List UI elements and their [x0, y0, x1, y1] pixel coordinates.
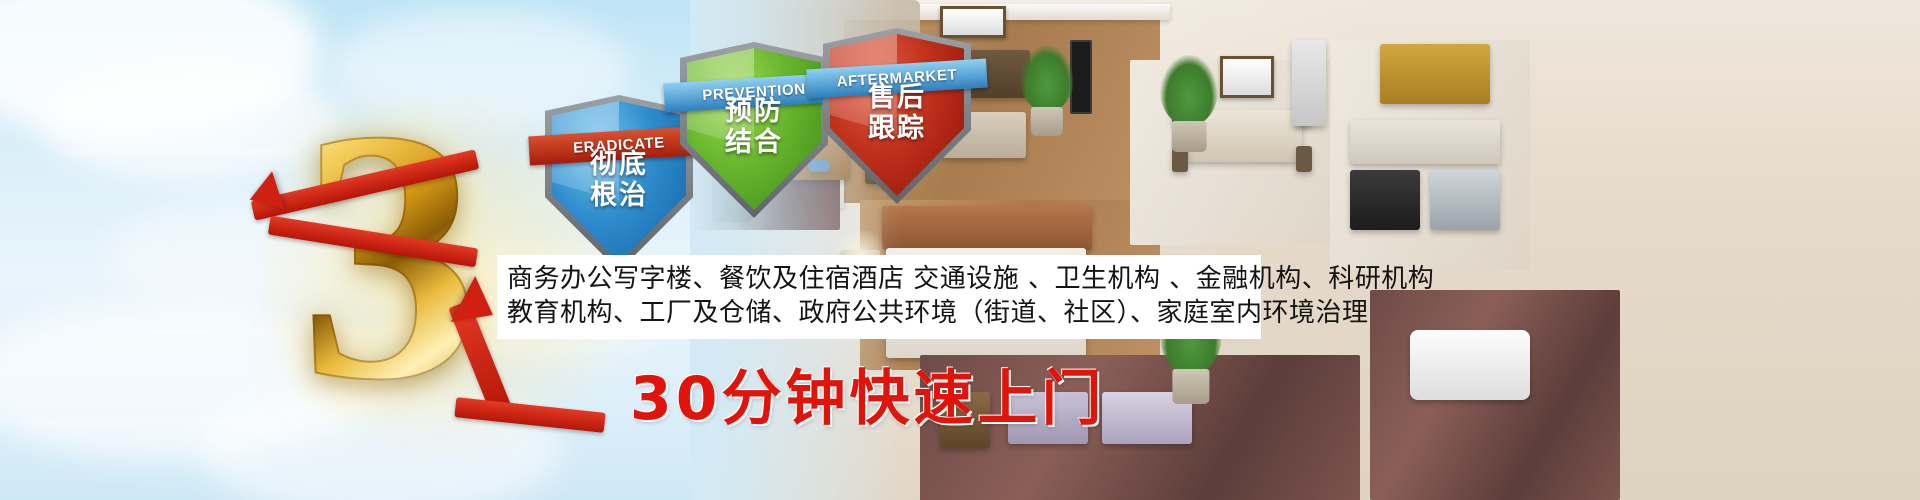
oven — [1350, 170, 1420, 230]
service-scope-line-1: 商务办公写字楼、餐饮及住宿酒店 交通设施 、卫生机构 、金融机构、科研机构 — [507, 262, 1251, 296]
plant-pot — [1031, 107, 1063, 136]
kitchen-counter — [1350, 120, 1500, 164]
shield-cn-line1: 售后 — [823, 82, 971, 113]
cloud-streak — [20, 420, 280, 423]
shield-cn-line1: 彻底 — [545, 149, 693, 180]
cloud-shape — [40, 60, 340, 180]
promo-banner: 3 ERADICATE 彻底 根治 PREVENTION 预防 结合 — [0, 0, 1920, 500]
plant-pot — [1172, 121, 1207, 152]
promo-headline: 30分钟快速上门 — [630, 350, 1106, 437]
plant-pot — [1172, 369, 1209, 404]
plant-leaves — [1160, 55, 1218, 127]
shield-cn-line2: 结合 — [680, 127, 828, 158]
shield-badge-prevention: PREVENTION 预防 结合 — [680, 42, 828, 218]
shield-cn-line1: 预防 — [680, 96, 828, 127]
upper-cabinet — [1380, 44, 1490, 104]
shield-cn-text: 售后 跟踪 — [823, 82, 971, 144]
shield-cn-text: 彻底 根治 — [545, 149, 693, 211]
water-heater — [1292, 40, 1326, 126]
plant-leaves — [1020, 45, 1074, 112]
wall-art — [1220, 56, 1274, 98]
shield-cn-text: 预防 结合 — [680, 96, 828, 158]
bathtub — [1410, 330, 1530, 400]
service-scope-panel: 商务办公写字楼、餐饮及住宿酒店 交通设施 、卫生机构 、金融机构、科研机构 教育… — [497, 255, 1261, 339]
cloud-streak — [60, 150, 300, 153]
potted-plant — [1160, 60, 1218, 152]
shield-cn-line2: 根治 — [545, 180, 693, 211]
bed-headboard — [882, 206, 1092, 250]
refrigerator — [1430, 170, 1500, 230]
shield-badge-aftermarket: AFTERMARKET 售后 跟踪 — [823, 28, 971, 204]
dining-chair — [1296, 146, 1312, 172]
potted-plant — [1020, 50, 1074, 136]
shield-badge-eradicate: ERADICATE 彻底 根治 — [545, 95, 693, 271]
service-scope-line-2: 教育机构、工厂及仓储、政府公共环境（街道、社区）、家庭室内环境治理 — [507, 296, 1251, 330]
shield-cn-line2: 跟踪 — [823, 113, 971, 144]
